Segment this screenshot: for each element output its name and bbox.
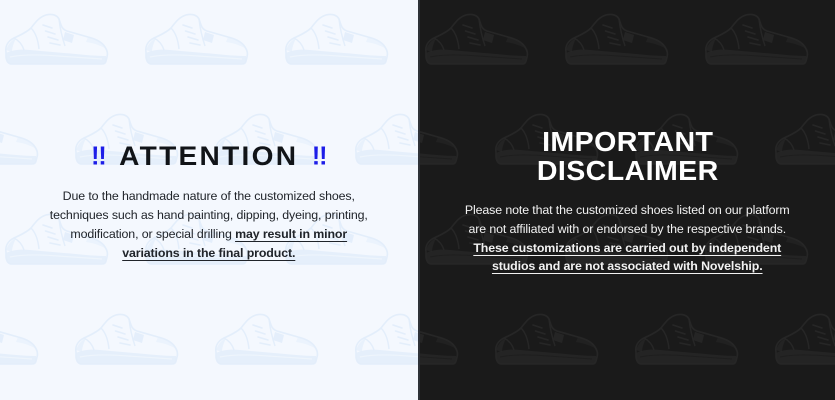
attention-content: !! ATTENTION !! Due to the handmade natu…: [0, 143, 418, 262]
attention-panel: !! ATTENTION !! Due to the handmade natu…: [0, 0, 418, 400]
disclaimer-body-emphasis: These customizations are carried out by …: [473, 241, 781, 274]
disclaimer-heading-line-1: IMPORTANT: [542, 126, 713, 157]
disclaimer-body-text: Please note that the customized shoes li…: [456, 201, 800, 275]
attention-body-text: Due to the handmade nature of the custom…: [42, 187, 376, 262]
disclaimer-banner: !! ATTENTION !! Due to the handmade natu…: [0, 0, 835, 400]
attention-heading-word: ATTENTION: [119, 143, 298, 170]
attention-heading: !! ATTENTION !!: [35, 143, 382, 170]
double-exclamation-icon-right: !!: [312, 144, 327, 170]
disclaimer-heading: IMPORTANT DISCLAIMER: [452, 128, 802, 185]
disclaimer-body-regular: Please note that the customized shoes li…: [465, 203, 790, 236]
disclaimer-content: IMPORTANT DISCLAIMER Please note that th…: [420, 128, 835, 276]
disclaimer-heading-line-2: DISCLAIMER: [452, 157, 802, 186]
double-exclamation-icon-left: !!: [91, 144, 106, 170]
important-disclaimer-panel: IMPORTANT DISCLAIMER Please note that th…: [418, 0, 835, 400]
